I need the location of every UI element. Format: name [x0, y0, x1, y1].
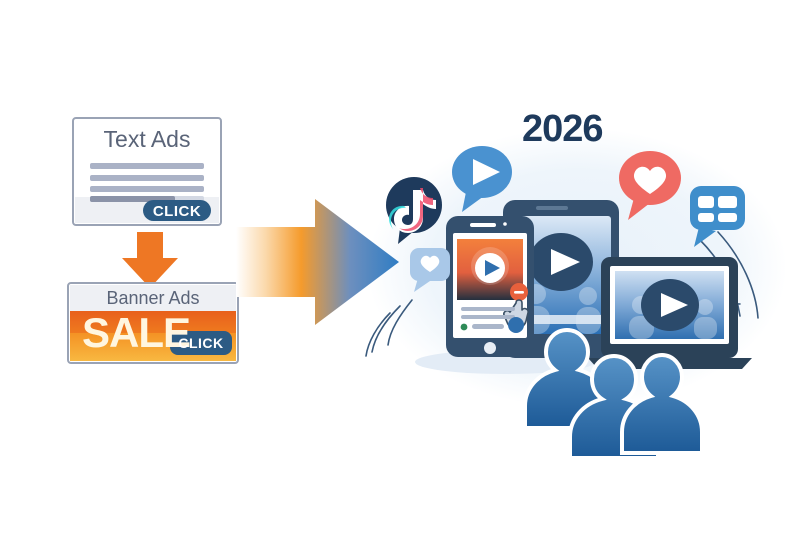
- banner-ad-click-label: CLICK: [170, 335, 232, 351]
- down-arrow-icon: [122, 232, 178, 288]
- phone-action-button[interactable]: [508, 317, 524, 333]
- banner-ads-label: Banner Ads: [68, 288, 238, 309]
- smartphone-device: [446, 216, 534, 357]
- laptop-play-icon[interactable]: [641, 279, 699, 331]
- illustration-canvas: Text Ads CLICK Banner Ads SALE CLICK 202…: [0, 0, 800, 533]
- text-ads-label: Text Ads: [73, 126, 221, 153]
- progression-arrow-icon: [236, 199, 399, 325]
- year-badge: 2026: [522, 108, 603, 151]
- text-ad-click-label: CLICK: [143, 203, 211, 220]
- tablet-play-icon[interactable]: [529, 233, 593, 291]
- laptop-device: [588, 257, 752, 369]
- phone-play-icon[interactable]: [475, 253, 505, 283]
- scene-svg: [0, 0, 800, 533]
